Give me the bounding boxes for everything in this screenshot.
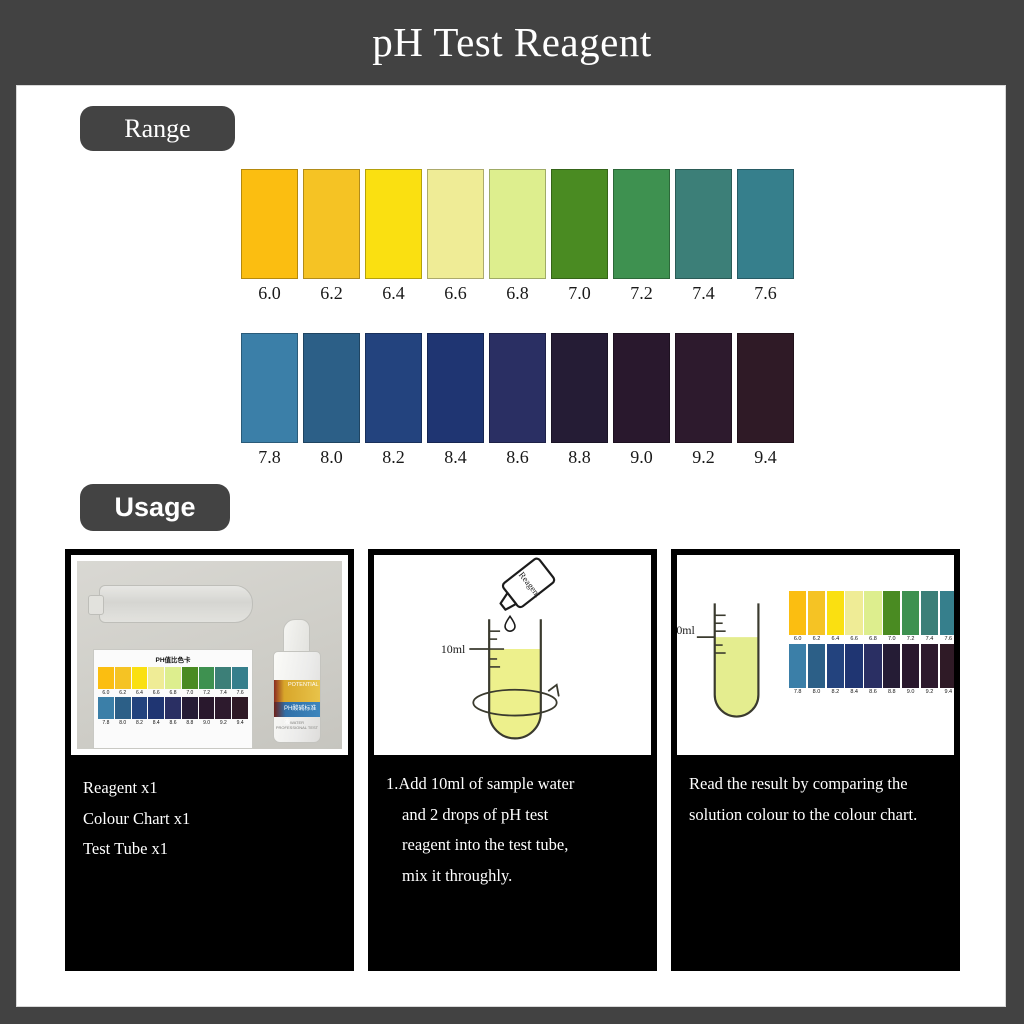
colour-swatch-label: 9.2 bbox=[692, 447, 715, 468]
colour-swatch-chip bbox=[883, 644, 900, 688]
dropper-diagram: Reagent bbox=[374, 555, 651, 755]
colour-swatch-chip bbox=[551, 333, 608, 443]
badge-range: Range bbox=[80, 106, 235, 151]
step-line: Read the result by comparing the bbox=[689, 769, 946, 800]
colour-swatch-chip bbox=[489, 169, 546, 279]
colour-swatch-label: 8.0 bbox=[320, 447, 343, 468]
reagent-bottle-icon: Reagent bbox=[492, 557, 557, 618]
badge-usage: Usage bbox=[80, 484, 230, 531]
colour-swatch-chip bbox=[182, 667, 198, 689]
colour-swatch-chip bbox=[182, 697, 198, 719]
mixing-arrow-head bbox=[549, 685, 559, 696]
colour-swatch-chip bbox=[148, 697, 164, 719]
colour-swatch-label: 6.4 bbox=[831, 636, 839, 642]
colour-swatch-label: 6.6 bbox=[850, 636, 858, 642]
colour-row-acidic: 6.06.26.46.66.87.07.27.47.6 bbox=[241, 169, 794, 304]
colour-swatch: 7.6 bbox=[940, 591, 954, 642]
colour-swatch-label: 9.4 bbox=[237, 720, 244, 726]
colour-swatch-chip bbox=[808, 591, 825, 635]
colour-swatch-chip bbox=[827, 644, 844, 688]
colour-swatch-label: 7.0 bbox=[888, 636, 896, 642]
panel-read-result-caption: Read the result by comparing the solutio… bbox=[671, 755, 960, 971]
colour-swatch: 9.2 bbox=[921, 644, 938, 695]
colour-swatch-chip bbox=[232, 697, 248, 719]
contents-item: Test Tube x1 bbox=[83, 834, 340, 865]
colour-swatch: 8.8 bbox=[182, 697, 198, 726]
colour-swatch-label: 9.2 bbox=[220, 720, 227, 726]
colour-swatch-chip bbox=[827, 591, 844, 635]
badge-usage-label: Usage bbox=[114, 492, 195, 523]
colour-row-alkaline: 7.88.08.28.48.68.89.09.29.4 bbox=[241, 333, 794, 468]
colour-swatch: 6.4 bbox=[365, 169, 422, 304]
colour-swatch-chip bbox=[241, 169, 298, 279]
colour-swatch: 8.6 bbox=[165, 697, 181, 726]
colour-swatch-label: 8.8 bbox=[888, 689, 896, 695]
panel-contents-figure: PH值比色卡 6.06.26.46.66.87.07.27.47.6 7.88.… bbox=[71, 555, 348, 755]
colour-swatch-chip bbox=[902, 591, 919, 635]
colour-swatch-label: 8.6 bbox=[170, 720, 177, 726]
colour-swatch-label: 7.4 bbox=[926, 636, 934, 642]
colour-swatch-chip bbox=[303, 169, 360, 279]
usage-panels: PH值比色卡 6.06.26.46.66.87.07.27.47.6 7.88.… bbox=[64, 548, 962, 972]
colour-swatch-label: 6.8 bbox=[506, 283, 529, 304]
colour-swatch: 7.0 bbox=[182, 667, 198, 696]
panel-contents-caption: Reagent x1 Colour Chart x1 Test Tube x1 bbox=[65, 755, 354, 971]
colour-swatch-chip bbox=[98, 697, 114, 719]
colour-swatch: 8.0 bbox=[115, 697, 131, 726]
colour-swatch-chip bbox=[241, 333, 298, 443]
droplet-icon bbox=[505, 616, 515, 631]
colour-swatch: 8.4 bbox=[427, 333, 484, 468]
colour-swatch-chip bbox=[737, 169, 794, 279]
colour-swatch-chip bbox=[940, 644, 954, 688]
colour-swatch-chip bbox=[148, 667, 164, 689]
colour-swatch: 7.8 bbox=[789, 644, 806, 695]
colour-swatch: 8.8 bbox=[551, 333, 608, 468]
colour-swatch-label: 8.2 bbox=[136, 720, 143, 726]
colour-swatch-chip bbox=[675, 169, 732, 279]
colour-swatch: 6.8 bbox=[165, 667, 181, 696]
colour-swatch-label: 6.6 bbox=[444, 283, 467, 304]
colour-swatch: 7.4 bbox=[215, 667, 231, 696]
colour-swatch: 8.6 bbox=[864, 644, 881, 695]
colour-swatch-chip bbox=[115, 667, 131, 689]
colour-swatch-label: 7.6 bbox=[754, 283, 777, 304]
colour-swatch: 6.8 bbox=[489, 169, 546, 304]
test-tube-photo bbox=[99, 585, 253, 623]
colour-swatch-label: 6.2 bbox=[119, 690, 126, 696]
panel-add-reagent-caption: 1.Add 10ml of sample water and 2 drops o… bbox=[368, 755, 657, 971]
bottle-body: POTENTIAL PH酸碱标准液 WATER PROFESSIONAL TES… bbox=[273, 651, 321, 743]
colour-swatch-chip bbox=[808, 644, 825, 688]
colour-swatch-chip bbox=[132, 667, 148, 689]
page-title: pH Test Reagent bbox=[372, 22, 651, 63]
colour-swatch: 7.2 bbox=[902, 591, 919, 642]
colour-swatch: 7.6 bbox=[232, 667, 248, 696]
colour-swatch-label: 9.0 bbox=[203, 720, 210, 726]
colour-swatch-chip bbox=[199, 667, 215, 689]
colour-swatch-label: 9.4 bbox=[754, 447, 777, 468]
colour-swatch-chip bbox=[883, 591, 900, 635]
colour-swatch: 9.0 bbox=[613, 333, 670, 468]
colour-swatch-chip bbox=[864, 591, 881, 635]
p3-colour-row-alkaline: 7.88.08.28.48.68.89.09.29.4 bbox=[789, 644, 954, 695]
tube-liquid bbox=[489, 649, 541, 738]
colour-swatch-chip bbox=[737, 333, 794, 443]
colour-swatch-label: 9.0 bbox=[907, 689, 915, 695]
colour-swatch-label: 7.4 bbox=[220, 690, 227, 696]
colour-swatch-label: 8.2 bbox=[831, 689, 839, 695]
colour-swatch-chip bbox=[165, 667, 181, 689]
colour-swatch: 8.2 bbox=[132, 697, 148, 726]
header-bar: pH Test Reagent bbox=[0, 0, 1024, 85]
colour-swatch-label: 6.0 bbox=[102, 690, 109, 696]
colour-swatch-chip bbox=[864, 644, 881, 688]
p3-colour-row-acidic: 6.06.26.46.66.87.07.27.47.6 bbox=[789, 591, 954, 642]
colour-swatch: 8.4 bbox=[148, 697, 164, 726]
colour-swatch: 8.0 bbox=[303, 333, 360, 468]
tube-liquid bbox=[715, 637, 759, 716]
bottle-label-line3: PH酸碱标准液 bbox=[274, 702, 320, 717]
volume-label: 10ml bbox=[677, 623, 696, 637]
colour-swatch: 6.4 bbox=[827, 591, 844, 642]
colour-swatch-chip bbox=[675, 333, 732, 443]
step-line: solution colour to the colour chart. bbox=[689, 800, 946, 831]
colour-swatch-chip bbox=[613, 169, 670, 279]
colour-swatch-label: 6.4 bbox=[136, 690, 143, 696]
colour-swatch-chip bbox=[232, 667, 248, 689]
reference-colour-chart: 6.06.26.46.66.87.07.27.47.6 7.88.08.28.4… bbox=[789, 591, 954, 697]
step-line: 1.Add 10ml of sample water bbox=[386, 769, 643, 800]
colour-swatch-chip bbox=[427, 333, 484, 443]
colour-swatch-chip bbox=[902, 644, 919, 688]
colour-swatch: 6.6 bbox=[148, 667, 164, 696]
colour-swatch-chip bbox=[199, 697, 215, 719]
colour-swatch-label: 9.2 bbox=[926, 689, 934, 695]
colour-swatch: 7.4 bbox=[675, 169, 732, 304]
colour-swatch: 7.0 bbox=[551, 169, 608, 304]
colour-swatch-label: 8.4 bbox=[444, 447, 467, 468]
colour-swatch-chip bbox=[489, 333, 546, 443]
colour-swatch: 8.6 bbox=[489, 333, 546, 468]
panel-read-result-figure: 10ml 6.06.26.46.66.87.07.27.47.6 7.88.08… bbox=[677, 555, 954, 755]
colour-swatch: 9.0 bbox=[199, 697, 215, 726]
colour-swatch-label: 7.8 bbox=[102, 720, 109, 726]
contents-item: Reagent x1 bbox=[83, 773, 340, 804]
colour-swatch-label: 7.2 bbox=[203, 690, 210, 696]
bottle-label-line1: POTENTIAL bbox=[274, 680, 320, 702]
colour-swatch: 6.8 bbox=[864, 591, 881, 642]
colour-swatch-chip bbox=[215, 667, 231, 689]
mini-colour-row-acidic: 6.06.26.46.66.87.07.27.47.6 bbox=[98, 667, 248, 696]
colour-swatch-label: 8.8 bbox=[568, 447, 591, 468]
colour-swatch: 6.2 bbox=[115, 667, 131, 696]
colour-swatch-chip bbox=[365, 333, 422, 443]
colour-swatch-label: 8.2 bbox=[382, 447, 405, 468]
colour-swatch-label: 7.0 bbox=[568, 283, 591, 304]
colour-swatch: 6.6 bbox=[845, 591, 862, 642]
colour-swatch: 8.2 bbox=[365, 333, 422, 468]
colour-swatch-label: 9.4 bbox=[944, 689, 952, 695]
colour-swatch-chip bbox=[427, 169, 484, 279]
step-line: mix it throughly. bbox=[386, 861, 643, 892]
contents-item: Colour Chart x1 bbox=[83, 804, 340, 835]
colour-swatch-chip bbox=[921, 591, 938, 635]
colour-swatch-label: 8.6 bbox=[506, 447, 529, 468]
colour-swatch-label: 7.6 bbox=[237, 690, 244, 696]
colour-swatch: 7.2 bbox=[199, 667, 215, 696]
colour-swatch: 7.8 bbox=[241, 333, 298, 468]
colour-swatch-chip bbox=[132, 697, 148, 719]
colour-swatch-chip bbox=[845, 591, 862, 635]
colour-swatch-label: 8.4 bbox=[153, 720, 160, 726]
colour-swatch-chip bbox=[940, 591, 954, 635]
colour-swatch: 8.4 bbox=[845, 644, 862, 695]
colour-swatch-label: 8.8 bbox=[186, 720, 193, 726]
colour-swatch-label: 6.8 bbox=[170, 690, 177, 696]
colour-swatch-chip bbox=[845, 644, 862, 688]
colour-swatch-chip bbox=[789, 591, 806, 635]
colour-swatch: 9.2 bbox=[675, 333, 732, 468]
content-card: Range 6.06.26.46.66.87.07.27.47.6 7.88.0… bbox=[16, 85, 1006, 1007]
colour-swatch-label: 8.6 bbox=[869, 689, 877, 695]
panel-add-reagent: Reagent bbox=[367, 548, 658, 972]
reagent-bottle-photo: POTENTIAL PH酸碱标准液 WATER PROFESSIONAL TES… bbox=[273, 619, 319, 741]
colour-swatch-label: 7.4 bbox=[692, 283, 715, 304]
colour-swatch-label: 6.4 bbox=[382, 283, 405, 304]
product-photo: PH值比色卡 6.06.26.46.66.87.07.27.47.6 7.88.… bbox=[77, 561, 342, 749]
panel-add-reagent-figure: Reagent bbox=[374, 555, 651, 755]
colour-swatch-label: 7.8 bbox=[258, 447, 281, 468]
colour-swatch-label: 7.0 bbox=[186, 690, 193, 696]
colour-swatch: 7.2 bbox=[613, 169, 670, 304]
colour-swatch-label: 7.6 bbox=[944, 636, 952, 642]
volume-label: 10ml bbox=[441, 642, 466, 656]
colour-swatch-label: 6.0 bbox=[258, 283, 281, 304]
colour-swatch-label: 6.0 bbox=[794, 636, 802, 642]
colour-swatch: 7.4 bbox=[921, 591, 938, 642]
colour-swatch-chip bbox=[215, 697, 231, 719]
colour-swatch-label: 6.2 bbox=[320, 283, 343, 304]
colour-swatch-label: 7.2 bbox=[907, 636, 915, 642]
colour-swatch: 6.6 bbox=[427, 169, 484, 304]
panel-contents: PH值比色卡 6.06.26.46.66.87.07.27.47.6 7.88.… bbox=[64, 548, 355, 972]
colour-swatch-label: 7.8 bbox=[794, 689, 802, 695]
colour-swatch-chip bbox=[551, 169, 608, 279]
colour-swatch-label: 6.6 bbox=[153, 690, 160, 696]
colour-swatch: 8.8 bbox=[883, 644, 900, 695]
colour-swatch-label: 8.4 bbox=[850, 689, 858, 695]
colour-swatch-label: 7.2 bbox=[630, 283, 653, 304]
badge-range-label: Range bbox=[124, 114, 190, 144]
colour-swatch-chip bbox=[921, 644, 938, 688]
colour-swatch-label: 6.8 bbox=[869, 636, 877, 642]
colour-swatch: 9.0 bbox=[902, 644, 919, 695]
colour-swatch: 7.6 bbox=[737, 169, 794, 304]
colour-swatch: 7.8 bbox=[98, 697, 114, 726]
colour-swatch: 6.2 bbox=[303, 169, 360, 304]
colour-swatch-label: 8.0 bbox=[813, 689, 821, 695]
step-line: and 2 drops of pH test bbox=[386, 800, 643, 831]
colour-swatch-chip bbox=[165, 697, 181, 719]
colour-swatch: 9.4 bbox=[737, 333, 794, 468]
colour-swatch: 6.0 bbox=[789, 591, 806, 642]
bottle-label-line4: WATER PROFESSIONAL TEST bbox=[274, 720, 320, 730]
colour-swatch: 8.2 bbox=[827, 644, 844, 695]
mini-colour-row-alkaline: 7.88.08.28.48.68.89.09.29.4 bbox=[98, 697, 248, 726]
colour-swatch: 9.4 bbox=[232, 697, 248, 726]
colour-swatch: 6.2 bbox=[808, 591, 825, 642]
colour-swatch-label: 6.2 bbox=[813, 636, 821, 642]
colour-swatch-chip bbox=[789, 644, 806, 688]
colour-swatch: 6.4 bbox=[132, 667, 148, 696]
colour-swatch-label: 8.0 bbox=[119, 720, 126, 726]
colour-chart-card-title: PH值比色卡 bbox=[98, 654, 248, 664]
colour-swatch-chip bbox=[98, 667, 114, 689]
colour-swatch: 8.0 bbox=[808, 644, 825, 695]
step-line: reagent into the test tube, bbox=[386, 830, 643, 861]
colour-swatch-chip bbox=[613, 333, 670, 443]
colour-swatch: 9.4 bbox=[940, 644, 954, 695]
colour-chart-card-photo: PH值比色卡 6.06.26.46.66.87.07.27.47.6 7.88.… bbox=[93, 649, 253, 749]
infographic-root: pH Test Reagent Range 6.06.26.46.66.87.0… bbox=[0, 0, 1024, 1024]
colour-swatch: 6.0 bbox=[241, 169, 298, 304]
colour-swatch-chip bbox=[303, 333, 360, 443]
colour-swatch-label: 9.0 bbox=[630, 447, 653, 468]
panel-read-result: 10ml 6.06.26.46.66.87.07.27.47.6 7.88.08… bbox=[670, 548, 961, 972]
colour-swatch: 7.0 bbox=[883, 591, 900, 642]
colour-swatch: 9.2 bbox=[215, 697, 231, 726]
colour-swatch-chip bbox=[365, 169, 422, 279]
colour-swatch: 6.0 bbox=[98, 667, 114, 696]
colour-swatch-chip bbox=[115, 697, 131, 719]
